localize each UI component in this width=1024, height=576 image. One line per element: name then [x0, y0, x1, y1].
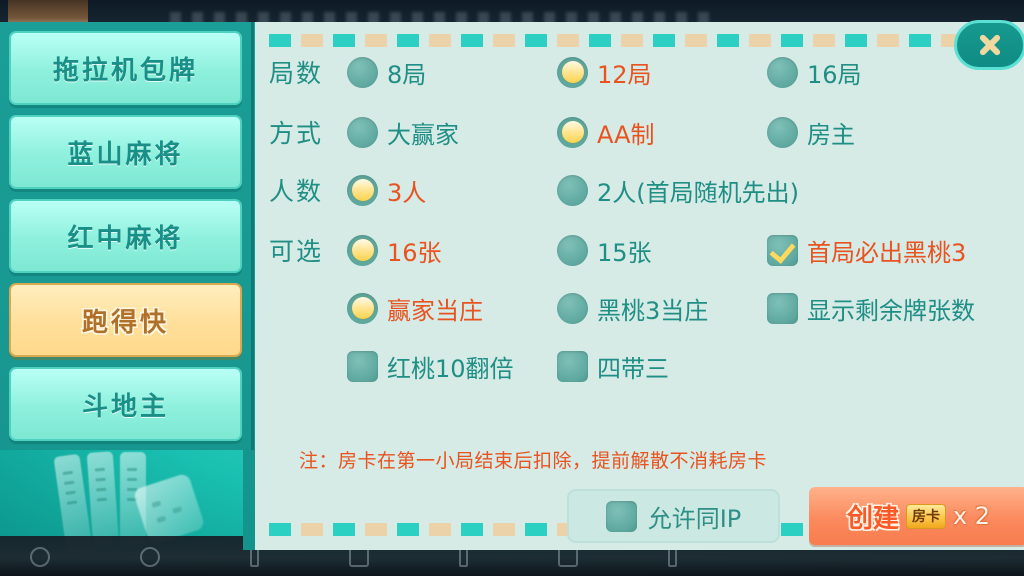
radio-control[interactable]	[557, 175, 588, 206]
checkbox-control[interactable]	[557, 351, 588, 382]
sidebar-item-label: 红中麻将	[67, 218, 183, 255]
option-label: 12局	[597, 55, 652, 90]
panel-inner: 局数8局12局16局方式大赢家AA制房主人数3人2人(首局随机先出)可选16张1…	[257, 34, 1024, 536]
settings-row-label: 方式	[269, 114, 347, 150]
option-label: 黑桃3当庄	[597, 291, 708, 326]
sidebar-item-0[interactable]: 拖拉机包牌	[9, 31, 242, 105]
option-label: 显示剩余牌张数	[807, 291, 975, 326]
radio-control[interactable]	[347, 175, 378, 206]
panel-top-dashed-border	[269, 34, 1024, 47]
option-label: 房主	[807, 115, 855, 150]
option-label: 2人(首局随机先出)	[597, 173, 799, 208]
allow-same-ip-label: 允许同IP	[648, 499, 742, 534]
checkbox-control[interactable]	[767, 293, 798, 324]
option-label: 首局必出黑桃3	[807, 233, 966, 268]
checkbox-control[interactable]	[347, 351, 378, 382]
sidebar-item-4[interactable]: 斗地主	[9, 367, 242, 441]
settings-row-label: 可选	[269, 232, 347, 268]
option-4-0[interactable]: 赢家当庄	[347, 291, 483, 326]
sidebar-item-1[interactable]: 蓝山麻将	[9, 115, 242, 189]
note-text: 注：房卡在第一小局结束后扣除，提前解散不消耗房卡	[299, 446, 767, 473]
close-icon	[977, 32, 1003, 58]
option-label: 15张	[597, 233, 652, 268]
sidebar-item-label: 拖拉机包牌	[53, 50, 198, 87]
option-1-1[interactable]: AA制	[557, 115, 655, 150]
radio-control[interactable]	[347, 117, 378, 148]
option-1-2[interactable]: 房主	[767, 115, 855, 150]
allow-same-ip-toggle[interactable]: 允许同IP	[567, 489, 780, 543]
option-0-0[interactable]: 8局	[347, 55, 426, 90]
sidebar-item-3[interactable]: 跑得快	[9, 283, 242, 357]
nav-home-icon[interactable]	[30, 547, 50, 567]
room-settings-panel: 局数8局12局16局方式大赢家AA制房主人数3人2人(首局随机先出)可选16张1…	[243, 22, 1024, 550]
nav-mic-icon[interactable]	[668, 547, 677, 567]
option-3-2[interactable]: 首局必出黑桃3	[767, 233, 966, 268]
settings-row-4: 赢家当庄黑桃3当庄显示剩余牌张数	[269, 284, 1024, 332]
radio-control[interactable]	[557, 117, 588, 148]
radio-control[interactable]	[347, 235, 378, 266]
option-5-0[interactable]: 红桃10翻倍	[347, 349, 514, 384]
option-label: 四带三	[597, 349, 669, 384]
option-label: AA制	[597, 115, 655, 150]
radio-control[interactable]	[347, 293, 378, 324]
settings-row-label: 人数	[269, 172, 347, 208]
settings-row-3: 可选16张15张首局必出黑桃3	[269, 226, 1024, 274]
sidebar-item-label: 蓝山麻将	[67, 134, 183, 171]
settings-row-label: 局数	[269, 54, 347, 90]
radio-control[interactable]	[557, 57, 588, 88]
option-0-1[interactable]: 12局	[557, 55, 652, 90]
option-3-0[interactable]: 16张	[347, 233, 442, 268]
option-label: 3人	[387, 173, 426, 208]
sidebar-item-label: 斗地主	[82, 386, 169, 423]
create-room-button[interactable]: 创建 房卡 x 2	[809, 487, 1024, 545]
radio-control[interactable]	[347, 57, 378, 88]
option-4-2[interactable]: 显示剩余牌张数	[767, 291, 975, 326]
nav-people-icon[interactable]	[558, 547, 578, 567]
nav-info-icon[interactable]	[459, 547, 468, 567]
radio-control[interactable]	[767, 117, 798, 148]
option-5-1[interactable]: 四带三	[557, 349, 669, 384]
radio-control[interactable]	[557, 235, 588, 266]
option-label: 红桃10翻倍	[387, 349, 514, 384]
sidebar-item-2[interactable]: 红中麻将	[9, 199, 242, 273]
radio-control[interactable]	[557, 293, 588, 324]
game-screen: 拖拉机包牌蓝山麻将红中麻将跑得快斗地主 局数8局12局16局方式大赢家AA制房主…	[0, 0, 1024, 576]
settings-row-1: 方式大赢家AA制房主	[269, 108, 1024, 156]
settings-row-2: 人数3人2人(首局随机先出)	[269, 166, 1024, 214]
checkbox-control[interactable]	[767, 235, 798, 266]
nav-user-icon[interactable]	[140, 547, 160, 567]
option-1-0[interactable]: 大赢家	[347, 115, 459, 150]
allow-same-ip-checkbox[interactable]	[606, 501, 637, 532]
option-2-0[interactable]: 3人	[347, 173, 426, 208]
option-3-1[interactable]: 15张	[557, 233, 652, 268]
create-room-label: 创建	[847, 498, 899, 535]
radio-control[interactable]	[767, 57, 798, 88]
option-label: 8局	[387, 55, 426, 90]
close-button[interactable]	[954, 20, 1024, 70]
option-4-1[interactable]: 黑桃3当庄	[557, 291, 708, 326]
option-label: 大赢家	[387, 115, 459, 150]
settings-row-0: 局数8局12局16局	[269, 48, 1024, 96]
nav-chat-icon[interactable]	[349, 547, 369, 567]
nav-pause-icon[interactable]	[250, 547, 259, 567]
room-card-icon: 房卡	[906, 504, 946, 529]
option-label: 16张	[387, 233, 442, 268]
sidebar-item-label: 跑得快	[82, 302, 169, 339]
option-label: 16局	[807, 55, 862, 90]
option-label: 赢家当庄	[387, 291, 483, 326]
room-card-multiplier: x 2	[953, 502, 990, 530]
option-0-2[interactable]: 16局	[767, 55, 862, 90]
game-type-sidebar: 拖拉机包牌蓝山麻将红中麻将跑得快斗地主	[0, 22, 254, 450]
option-2-1[interactable]: 2人(首局随机先出)	[557, 173, 799, 208]
settings-row-5: 红桃10翻倍四带三	[269, 342, 1024, 390]
